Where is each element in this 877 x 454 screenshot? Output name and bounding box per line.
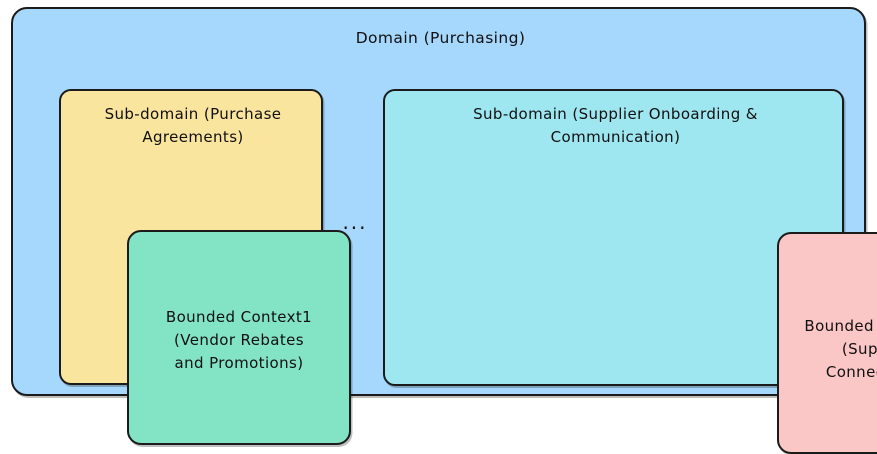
domain-title: Domain (Purchasing) [13,27,868,50]
bounded-context-supplier-connections[interactable]: Bounded Context1 (Supplier Connections) [777,232,877,454]
ellipsis-separator: ... [335,212,375,232]
subdomain-purchase-agreements[interactable]: Sub-domain (Purchase Agreements) Bounded… [59,89,323,385]
domain-box[interactable]: Domain (Purchasing) ... Sub-domain (Purc… [11,7,866,396]
diagram-canvas: Domain (Purchasing) ... Sub-domain (Purc… [0,0,877,411]
subdomain-supplier-onboarding-title: Sub-domain (Supplier Onboarding & Commun… [395,103,836,149]
bounded-context-vendor-rebates[interactable]: Bounded Context1 (Vendor Rebates and Pro… [127,230,351,445]
subdomain-supplier-onboarding[interactable]: Sub-domain (Supplier Onboarding & Commun… [383,89,844,386]
subdomain-purchase-agreements-title: Sub-domain (Purchase Agreements) [69,103,317,149]
bounded-context-vendor-rebates-label: Bounded Context1 (Vendor Rebates and Pro… [129,306,349,375]
bounded-context-supplier-connections-label: Bounded Context1 (Supplier Connections) [779,315,877,384]
